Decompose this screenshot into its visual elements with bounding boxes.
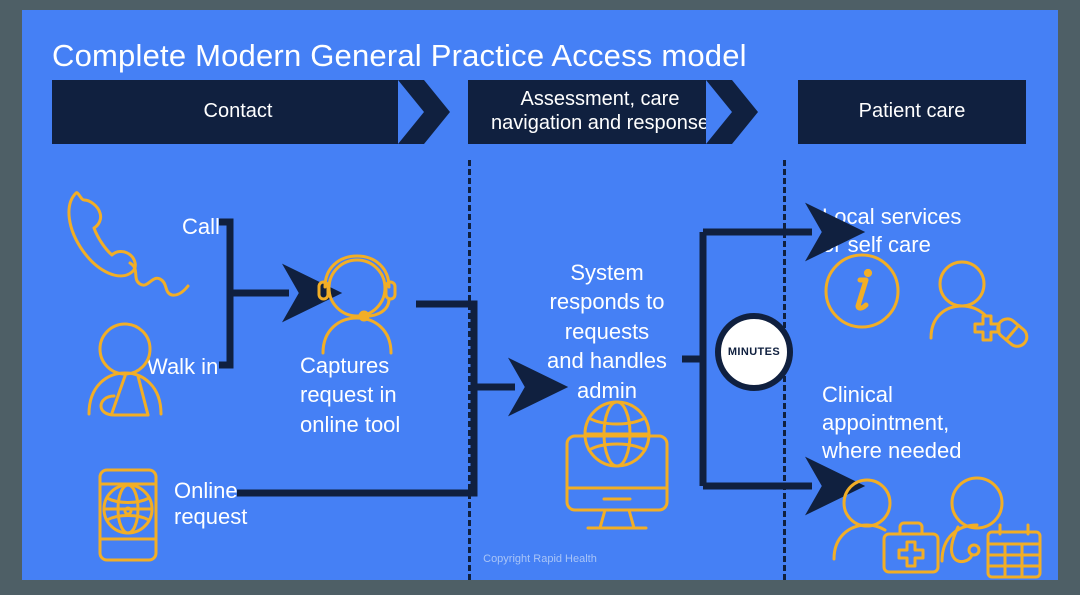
diagram-canvas: Complete Modern General Practice Access … xyxy=(22,10,1058,580)
icon-layer xyxy=(22,10,1058,580)
telephone-handset-icon xyxy=(69,193,188,295)
person-medical-bag-icon xyxy=(834,480,938,572)
diagram-frame: Complete Modern General Practice Access … xyxy=(0,0,1080,595)
person-stethoscope-calendar-icon xyxy=(942,478,1040,577)
desktop-globe-icon xyxy=(567,402,667,528)
mobile-globe-icon xyxy=(100,470,156,560)
headset-agent-icon xyxy=(319,256,395,353)
person-arm-sling-icon xyxy=(89,324,161,415)
timing-badge-minutes: MINUTES xyxy=(715,313,793,391)
info-circle-icon xyxy=(826,255,898,327)
person-pharmacy-pills-icon xyxy=(931,262,1031,350)
